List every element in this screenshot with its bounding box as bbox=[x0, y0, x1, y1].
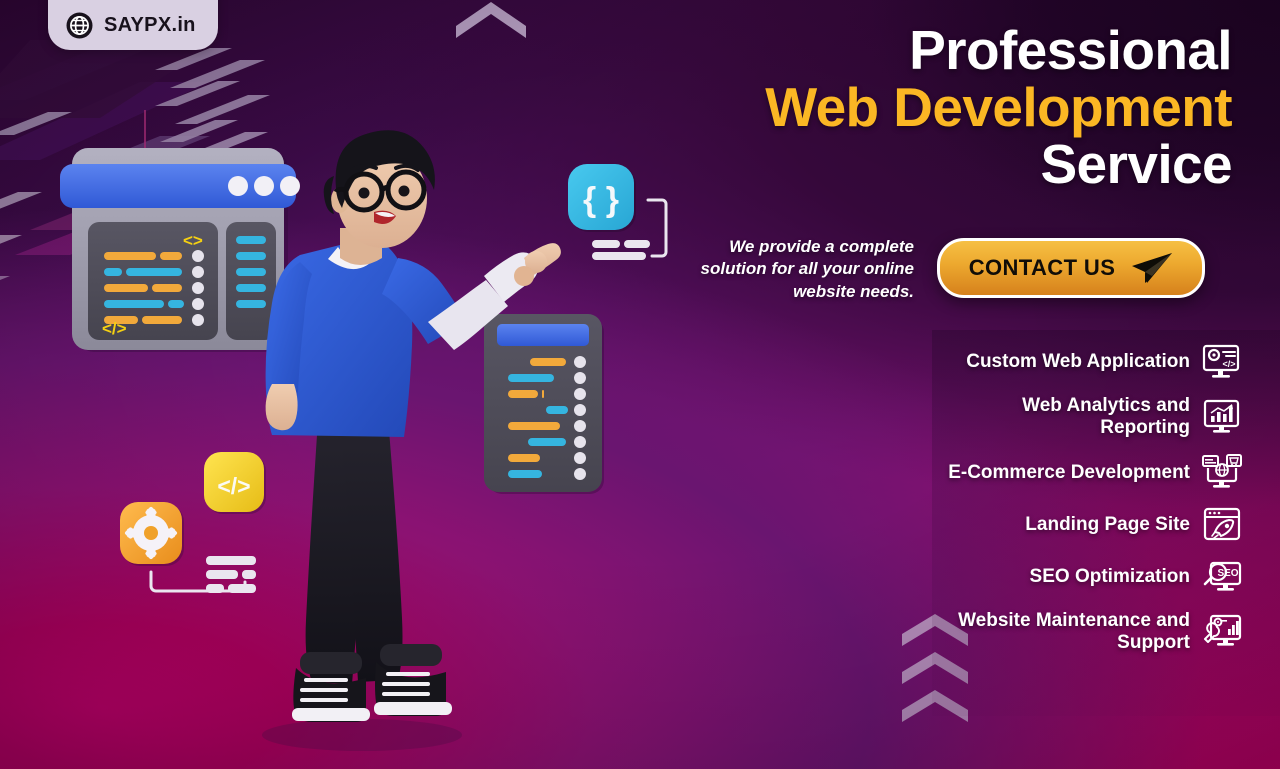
page-title: Professional Web Development Service bbox=[592, 22, 1232, 194]
code-tag-badge: </> bbox=[204, 452, 266, 514]
service-label: Landing Page Site bbox=[1025, 514, 1190, 536]
tagline: We provide a complete solution for all y… bbox=[688, 236, 914, 303]
service-item-e-commerce-development[interactable]: E-Commerce Development bbox=[930, 447, 1260, 499]
gear-badge bbox=[120, 502, 256, 593]
service-label: SEO Optimization bbox=[1030, 566, 1190, 588]
contact-us-button[interactable]: CONTACT US bbox=[937, 238, 1205, 298]
headline-line-3: Service bbox=[592, 136, 1232, 193]
monitor-cart-globe-icon bbox=[1202, 454, 1242, 492]
service-label: E-Commerce Development bbox=[948, 462, 1190, 484]
service-item-website-maintenance-and-support[interactable]: Website Maintenance and Support bbox=[930, 603, 1260, 662]
banner-stage: <> </> bbox=[0, 0, 1280, 769]
services-list: Custom Web Application </> Web Analytics… bbox=[930, 336, 1260, 662]
monitor-gear-code-icon: </> bbox=[1202, 343, 1242, 381]
service-item-web-analytics-and-reporting[interactable]: Web Analytics and Reporting bbox=[930, 388, 1260, 447]
service-item-seo-optimization[interactable]: SEO Optimization SEO bbox=[930, 551, 1260, 603]
svg-text:<>: <> bbox=[183, 231, 203, 250]
browser-rocket-icon bbox=[1202, 506, 1242, 544]
service-label: Custom Web Application bbox=[966, 351, 1190, 373]
headline-line-1: Professional bbox=[592, 22, 1232, 79]
svg-text:SEO: SEO bbox=[1217, 568, 1238, 579]
code-editor-window: <> </> bbox=[60, 148, 300, 352]
paper-plane-icon bbox=[1131, 252, 1173, 284]
monitor-wrench-chart-icon bbox=[1202, 613, 1242, 651]
monitor-seo-magnifier-icon: SEO bbox=[1202, 558, 1242, 596]
service-label: Website Maintenance and Support bbox=[930, 610, 1190, 655]
service-item-landing-page-site[interactable]: Landing Page Site bbox=[930, 499, 1260, 551]
svg-text:</>: </> bbox=[102, 319, 127, 338]
globe-icon bbox=[66, 12, 93, 39]
code-snippet-panel bbox=[484, 314, 604, 494]
headline-line-2: Web Development bbox=[592, 79, 1232, 136]
monitor-bar-chart-icon bbox=[1202, 398, 1242, 436]
brand-logo[interactable]: SAYPX.in bbox=[48, 0, 218, 50]
svg-text:</>: </> bbox=[217, 473, 250, 499]
service-item-custom-web-application[interactable]: Custom Web Application </> bbox=[930, 336, 1260, 388]
service-label: Web Analytics and Reporting bbox=[930, 395, 1190, 440]
brand-name: SAYPX.in bbox=[104, 14, 196, 37]
contact-us-label: CONTACT US bbox=[969, 255, 1116, 281]
svg-text:</>: </> bbox=[1222, 359, 1235, 369]
